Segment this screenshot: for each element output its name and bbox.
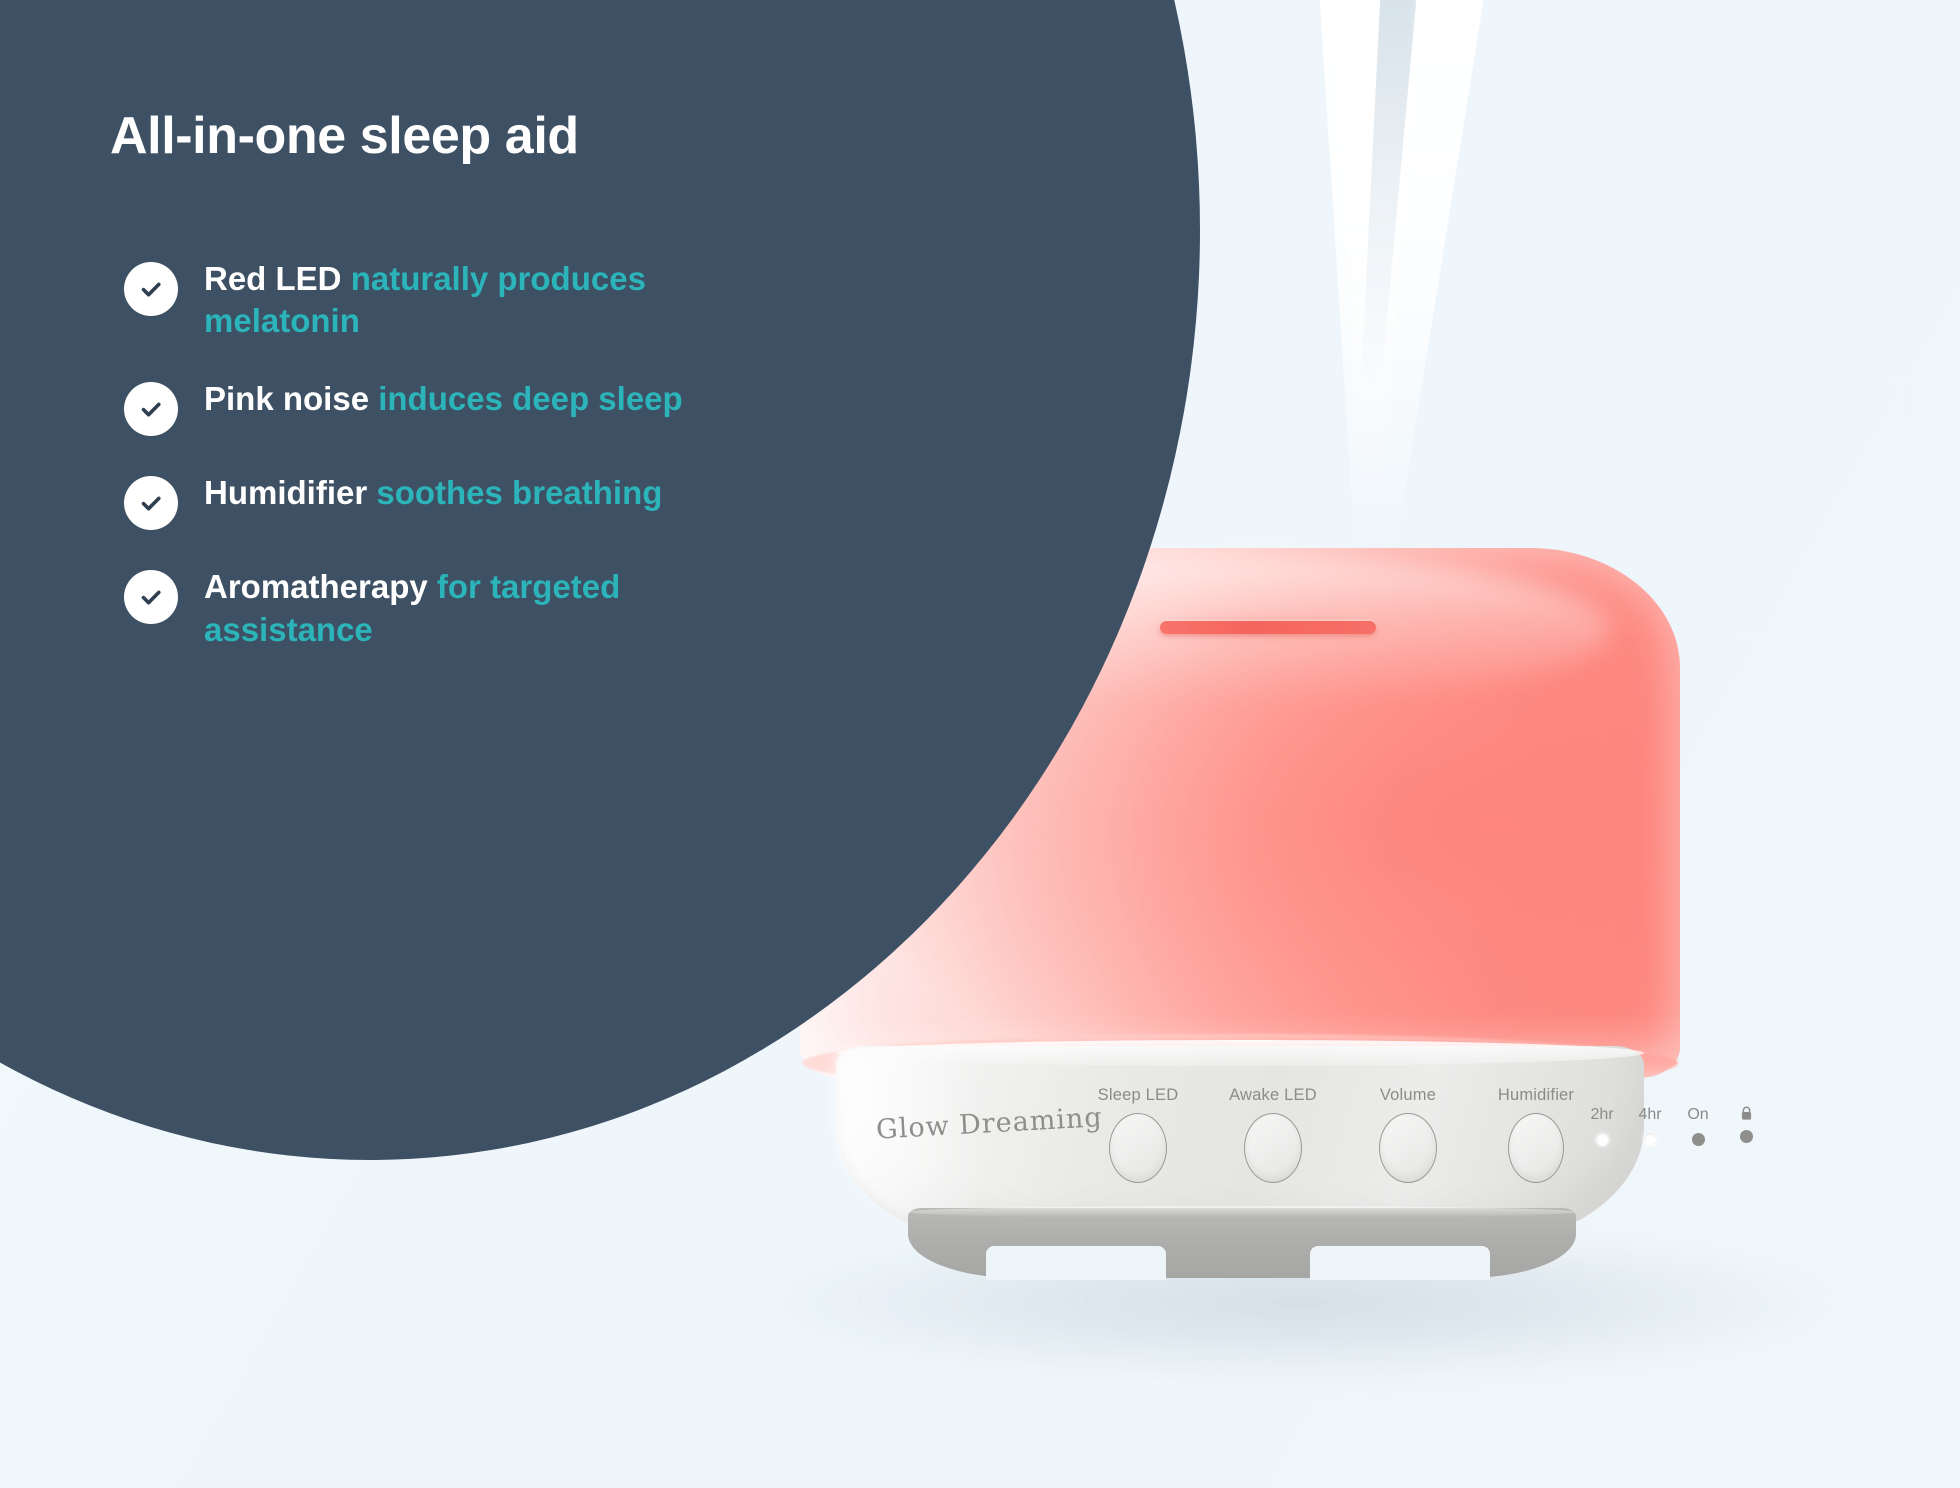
feature-strong: Red LED — [204, 260, 342, 297]
feature-strong: Humidifier — [204, 474, 367, 511]
product-feature-banner: Glow Dreaming Sleep LED Awake LED Volume… — [0, 0, 1960, 1488]
control-label: Sleep LED — [1088, 1086, 1188, 1105]
control-humidifier[interactable]: Humidifier — [1486, 1086, 1586, 1183]
feature-accent: induces deep sleep — [378, 380, 682, 417]
check-icon — [124, 262, 178, 316]
round-button[interactable] — [1379, 1113, 1437, 1183]
brand-logo: Glow Dreaming — [875, 1101, 1116, 1145]
round-button[interactable] — [1109, 1113, 1167, 1183]
feature-strong: Pink noise — [204, 380, 369, 417]
control-volume[interactable]: Volume — [1358, 1086, 1458, 1183]
foot-notch — [1310, 1246, 1490, 1280]
control-label: Volume — [1358, 1086, 1458, 1105]
mist-outlet-slot — [1160, 621, 1376, 634]
feature-strong: Aromatherapy — [204, 568, 428, 605]
round-button[interactable] — [1244, 1113, 1302, 1183]
copy-block: All-in-one sleep aid Red LED naturally p… — [0, 0, 820, 980]
list-item: Humidifier soothes breathing — [124, 472, 784, 530]
indicator-light — [1644, 1133, 1657, 1146]
check-icon — [124, 382, 178, 436]
list-item: Aromatherapy for targeted assistance — [124, 566, 784, 650]
feature-list: Red LED naturally produces melatonin Pin… — [124, 258, 784, 687]
check-icon — [124, 570, 178, 624]
lock-icon — [1740, 1106, 1753, 1121]
list-item: Pink noise induces deep sleep — [124, 378, 784, 436]
indicator-light — [1596, 1133, 1609, 1146]
indicator-lock — [1722, 1106, 1770, 1143]
feature-text: Humidifier soothes breathing — [204, 472, 662, 514]
control-awake-led[interactable]: Awake LED — [1223, 1086, 1323, 1183]
indicator-label: On — [1674, 1106, 1722, 1124]
control-sleep-led[interactable]: Sleep LED — [1088, 1086, 1188, 1183]
indicator-label: 4hr — [1626, 1106, 1674, 1124]
control-label: Humidifier — [1486, 1086, 1586, 1105]
feature-text: Red LED naturally produces melatonin — [204, 258, 744, 342]
feature-accent: soothes breathing — [376, 474, 662, 511]
indicator-label: 2hr — [1578, 1106, 1626, 1124]
indicator-light — [1740, 1130, 1753, 1143]
list-item: Red LED naturally produces melatonin — [124, 258, 784, 342]
indicator-2hr: 2hr — [1578, 1106, 1626, 1146]
feature-text: Pink noise induces deep sleep — [204, 378, 683, 420]
control-label: Awake LED — [1223, 1086, 1323, 1105]
indicator-4hr: 4hr — [1626, 1106, 1674, 1146]
page-title: All-in-one sleep aid — [110, 106, 579, 166]
indicator-light — [1692, 1133, 1705, 1146]
device-control-panel: Glow Dreaming Sleep LED Awake LED Volume… — [836, 1046, 1644, 1246]
check-icon — [124, 476, 178, 530]
indicator-on: On — [1674, 1106, 1722, 1146]
round-button[interactable] — [1508, 1113, 1564, 1183]
foot-notch — [986, 1246, 1166, 1280]
steam-plume — [1180, 0, 1600, 560]
feature-text: Aromatherapy for targeted assistance — [204, 566, 744, 650]
